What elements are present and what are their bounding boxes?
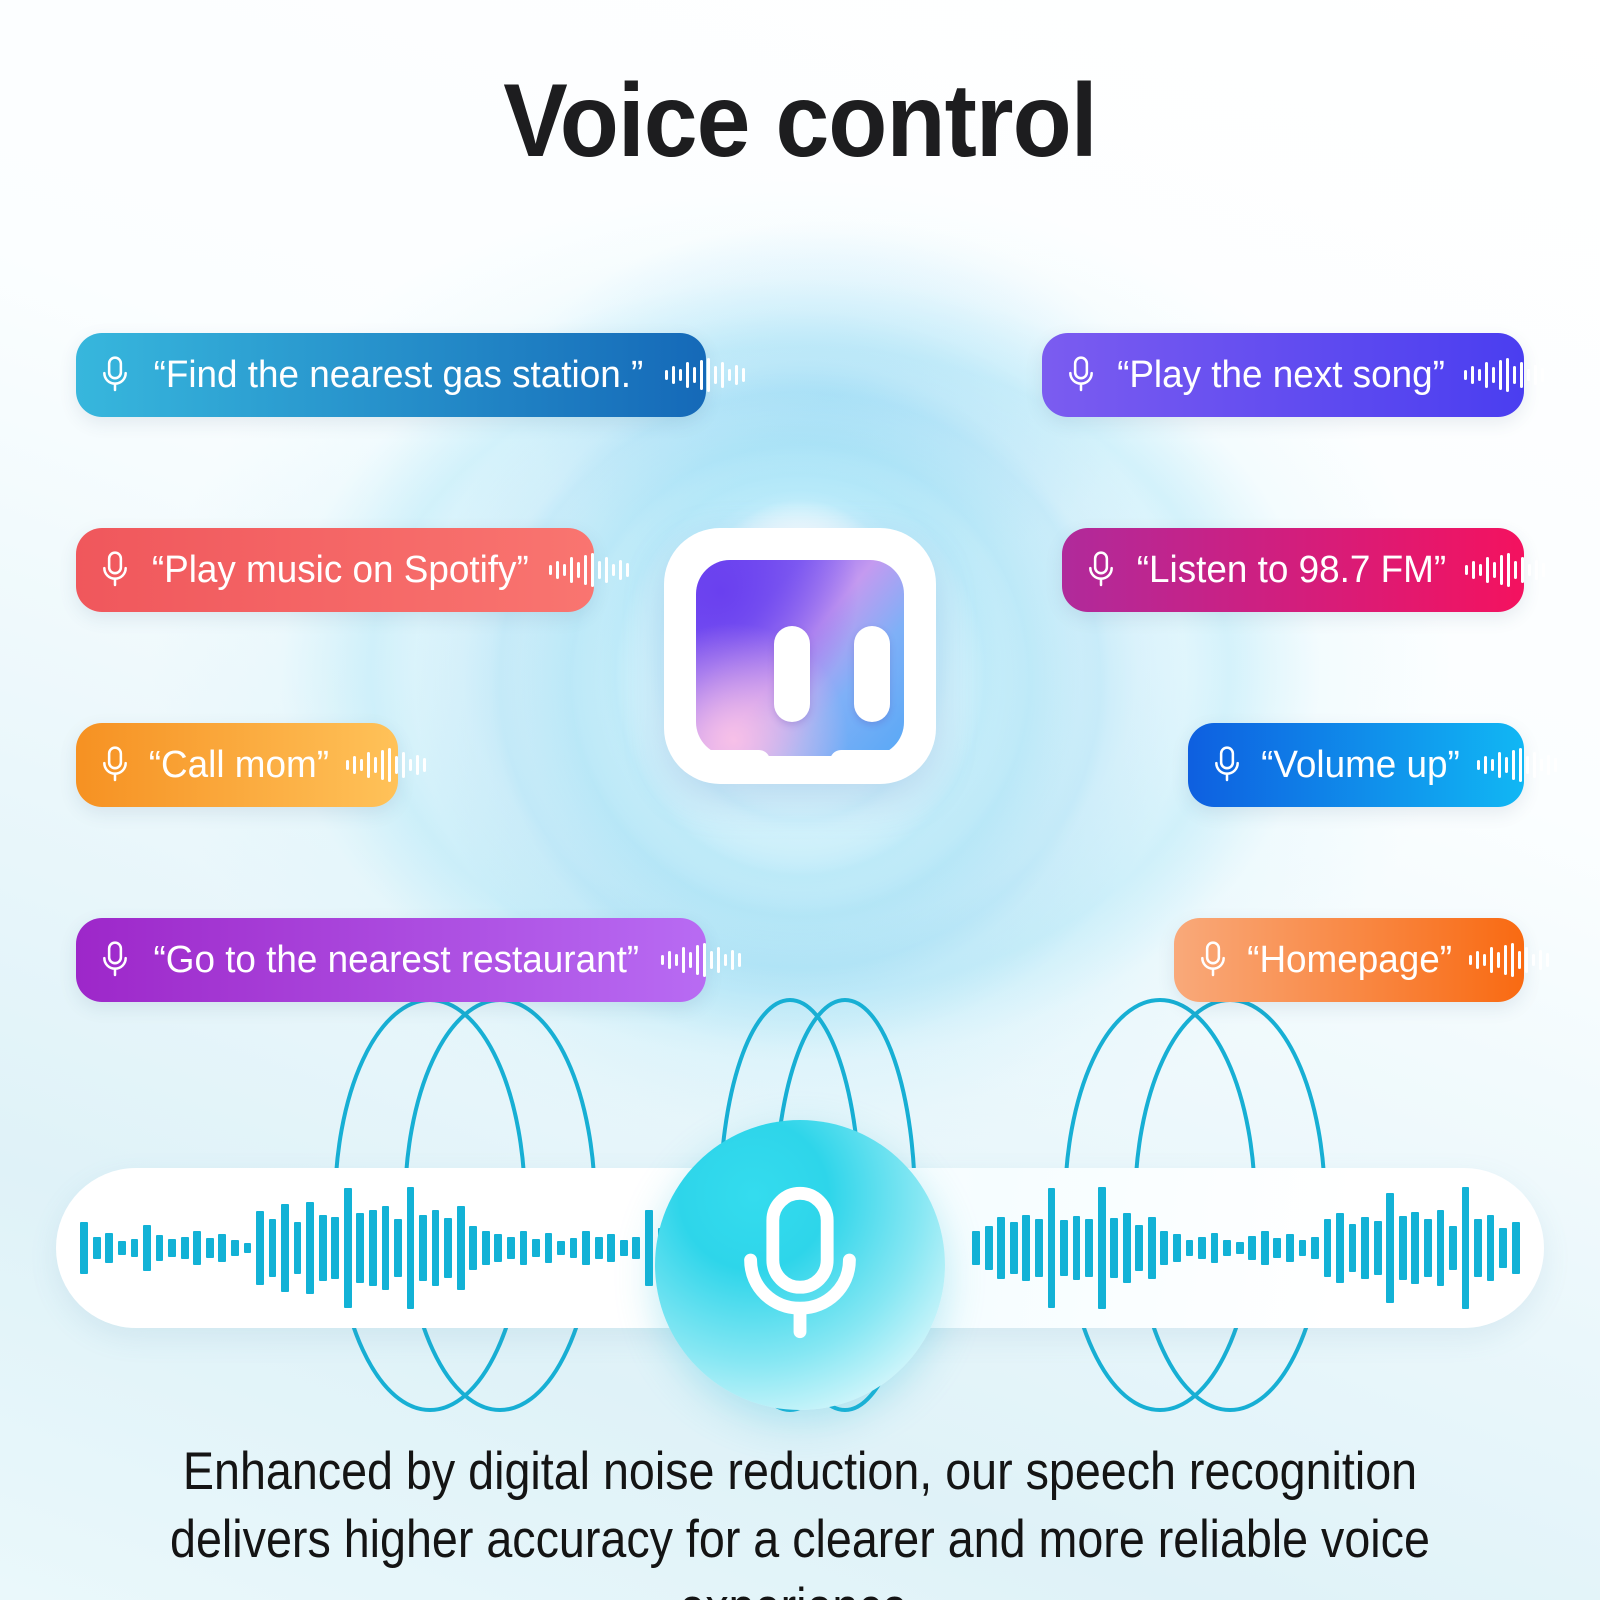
waveform-bar xyxy=(143,1225,151,1271)
waveform-bar xyxy=(206,1238,214,1258)
command-text: “Listen to 98.7 FM” xyxy=(1137,551,1446,589)
waveform-bar xyxy=(632,1237,640,1259)
waveform-bar xyxy=(1286,1234,1294,1262)
waveform-bar xyxy=(1311,1237,1319,1259)
waveform-bar xyxy=(344,1188,352,1308)
waveform-bar xyxy=(1135,1225,1143,1271)
waveform-bar xyxy=(997,1217,1005,1279)
waveform-bar xyxy=(1261,1231,1269,1265)
infographic-canvas: Voice control “Find the nearest gas stat… xyxy=(0,0,1600,1600)
waveform-bar xyxy=(1462,1187,1470,1309)
waveform-bar xyxy=(1336,1213,1344,1283)
microphone-icon xyxy=(1084,550,1118,590)
waveform-bar xyxy=(1386,1193,1394,1303)
command-text: “Volume up” xyxy=(1261,746,1460,784)
waveform-bar xyxy=(168,1239,176,1257)
microphone-icon xyxy=(1210,745,1244,785)
command-text: “Find the nearest gas station.” xyxy=(154,356,644,394)
device-eye-right xyxy=(854,626,890,722)
pill-waveform-icon xyxy=(1469,943,1549,977)
waveform-bar xyxy=(256,1211,264,1285)
waveform-bar xyxy=(1399,1216,1407,1280)
waveform-bar xyxy=(1073,1216,1081,1280)
waveform-bar xyxy=(1449,1226,1457,1270)
waveform-bar xyxy=(244,1243,252,1253)
waveform-bar xyxy=(1487,1215,1495,1281)
waveform-bar xyxy=(607,1234,615,1262)
waveform-bar xyxy=(620,1240,628,1256)
waveform-bar xyxy=(1035,1219,1043,1277)
waveform-bar xyxy=(1098,1187,1106,1309)
waveform-bar xyxy=(1085,1219,1093,1277)
waveform-bar xyxy=(972,1231,980,1265)
waveform-bar xyxy=(1173,1234,1181,1262)
waveform-bar xyxy=(156,1235,164,1261)
waveform-bar xyxy=(1123,1213,1131,1283)
command-pill-listen-fm[interactable]: “Listen to 98.7 FM” xyxy=(1062,528,1524,612)
microphone-icon xyxy=(98,355,132,395)
waveform-bar xyxy=(1160,1231,1168,1265)
waveform-bar xyxy=(1437,1210,1445,1286)
waveform-bar xyxy=(532,1239,540,1257)
waveform-bar xyxy=(1499,1228,1507,1268)
device-eye-left xyxy=(774,626,810,722)
assistant-face-icon xyxy=(664,528,936,784)
waveform-bar xyxy=(1223,1240,1231,1256)
pill-waveform-icon xyxy=(1477,748,1557,782)
page-title: Voice control xyxy=(56,62,1544,181)
command-pill-next-song[interactable]: “Play the next song” xyxy=(1042,333,1524,417)
waveform-bar xyxy=(105,1233,113,1263)
waveform-bar xyxy=(482,1231,490,1265)
waveform-bar xyxy=(1411,1212,1419,1284)
waveform-bar xyxy=(369,1210,377,1286)
waveform-bar xyxy=(545,1233,553,1263)
waveform-bar xyxy=(1299,1240,1307,1256)
command-pill-play-spotify[interactable]: “Play music on Spotify” xyxy=(76,528,594,612)
microphone-icon xyxy=(725,1181,875,1349)
waveform-bar xyxy=(985,1226,993,1270)
waveform-bar xyxy=(1474,1219,1482,1277)
command-pill-homepage[interactable]: “Homepage” xyxy=(1174,918,1524,1002)
waveform-bar xyxy=(595,1237,603,1259)
waveform-bar xyxy=(1236,1242,1244,1254)
pill-waveform-icon xyxy=(1465,553,1545,587)
waveform-bar xyxy=(645,1210,653,1286)
waveform-bar xyxy=(294,1222,302,1274)
waveform-bar xyxy=(1022,1215,1030,1281)
command-text: “Play the next song” xyxy=(1117,356,1445,394)
waveform-bar xyxy=(570,1238,578,1258)
waveform-bar xyxy=(457,1206,465,1290)
waveform-bar xyxy=(131,1239,139,1257)
pill-waveform-icon xyxy=(661,943,741,977)
waveform-bar xyxy=(1211,1233,1219,1263)
command-text: “Go to the nearest restaurant” xyxy=(154,941,640,979)
waveform-bar xyxy=(494,1234,502,1262)
waveform-bar xyxy=(1324,1219,1332,1277)
waveform-bar xyxy=(193,1231,201,1265)
command-pill-call-mom[interactable]: “Call mom” xyxy=(76,723,398,807)
waveform-bar xyxy=(407,1187,415,1309)
waveform-bar xyxy=(1361,1217,1369,1279)
waveform-bar xyxy=(331,1217,339,1279)
command-text: “Homepage” xyxy=(1247,941,1452,979)
waveform-bar xyxy=(118,1241,126,1255)
command-text: “Call mom” xyxy=(149,746,329,784)
microphone-button[interactable] xyxy=(655,1120,945,1410)
pill-waveform-icon xyxy=(346,748,426,782)
waveform-bar xyxy=(281,1204,289,1292)
waveform-bar xyxy=(1048,1188,1056,1308)
waveform-bar xyxy=(80,1222,88,1274)
waveform-bar xyxy=(382,1206,390,1290)
footer-caption: Enhanced by digital noise reduction, our… xyxy=(105,1438,1495,1600)
waveform-bar xyxy=(419,1215,427,1281)
command-pill-go-restaurant[interactable]: “Go to the nearest restaurant” xyxy=(76,918,706,1002)
waveform-bar xyxy=(1110,1218,1118,1278)
waveform-bar xyxy=(356,1213,364,1283)
waveform-bar xyxy=(582,1231,590,1265)
waveform-bar xyxy=(1349,1224,1357,1272)
waveform-bar xyxy=(507,1237,515,1259)
pill-waveform-icon xyxy=(549,553,629,587)
waveform-bar xyxy=(93,1237,101,1259)
device-screen xyxy=(696,560,904,756)
waveform-bar xyxy=(1010,1222,1018,1274)
pill-waveform-icon xyxy=(665,358,745,392)
waveform-bar xyxy=(1374,1221,1382,1275)
device-leg-right xyxy=(830,750,904,772)
waveform-bar xyxy=(1512,1222,1520,1274)
waveform-bar xyxy=(319,1215,327,1281)
waveform-bar xyxy=(1148,1217,1156,1279)
waveform-bar xyxy=(1273,1238,1281,1258)
waveform-bar xyxy=(1198,1237,1206,1259)
waveform-bar xyxy=(432,1210,440,1286)
waveform-bar xyxy=(444,1218,452,1278)
waveform-bar xyxy=(231,1240,239,1256)
waveform-bar xyxy=(269,1219,277,1277)
command-pill-find-gas-station[interactable]: “Find the nearest gas station.” xyxy=(76,333,706,417)
waveform-bar xyxy=(218,1234,226,1262)
waveform-bar xyxy=(181,1237,189,1259)
waveform-bar xyxy=(394,1219,402,1277)
waveform-bar xyxy=(469,1226,477,1270)
waveform-bar xyxy=(1186,1240,1194,1256)
microphone-icon xyxy=(98,745,132,785)
microphone-icon xyxy=(1196,940,1230,980)
waveform-bar xyxy=(1424,1219,1432,1277)
waveform-bar xyxy=(557,1241,565,1255)
microphone-icon xyxy=(1064,355,1098,395)
command-text: “Play music on Spotify” xyxy=(152,551,529,589)
command-pill-volume-up[interactable]: “Volume up” xyxy=(1188,723,1524,807)
device-leg-left xyxy=(696,750,770,772)
pill-waveform-icon xyxy=(1464,358,1544,392)
waveform-bar xyxy=(520,1231,528,1265)
microphone-icon xyxy=(98,940,132,980)
waveform-bar xyxy=(1248,1236,1256,1260)
microphone-icon xyxy=(98,550,132,590)
waveform-bar xyxy=(1060,1220,1068,1276)
waveform-bar xyxy=(306,1202,314,1294)
